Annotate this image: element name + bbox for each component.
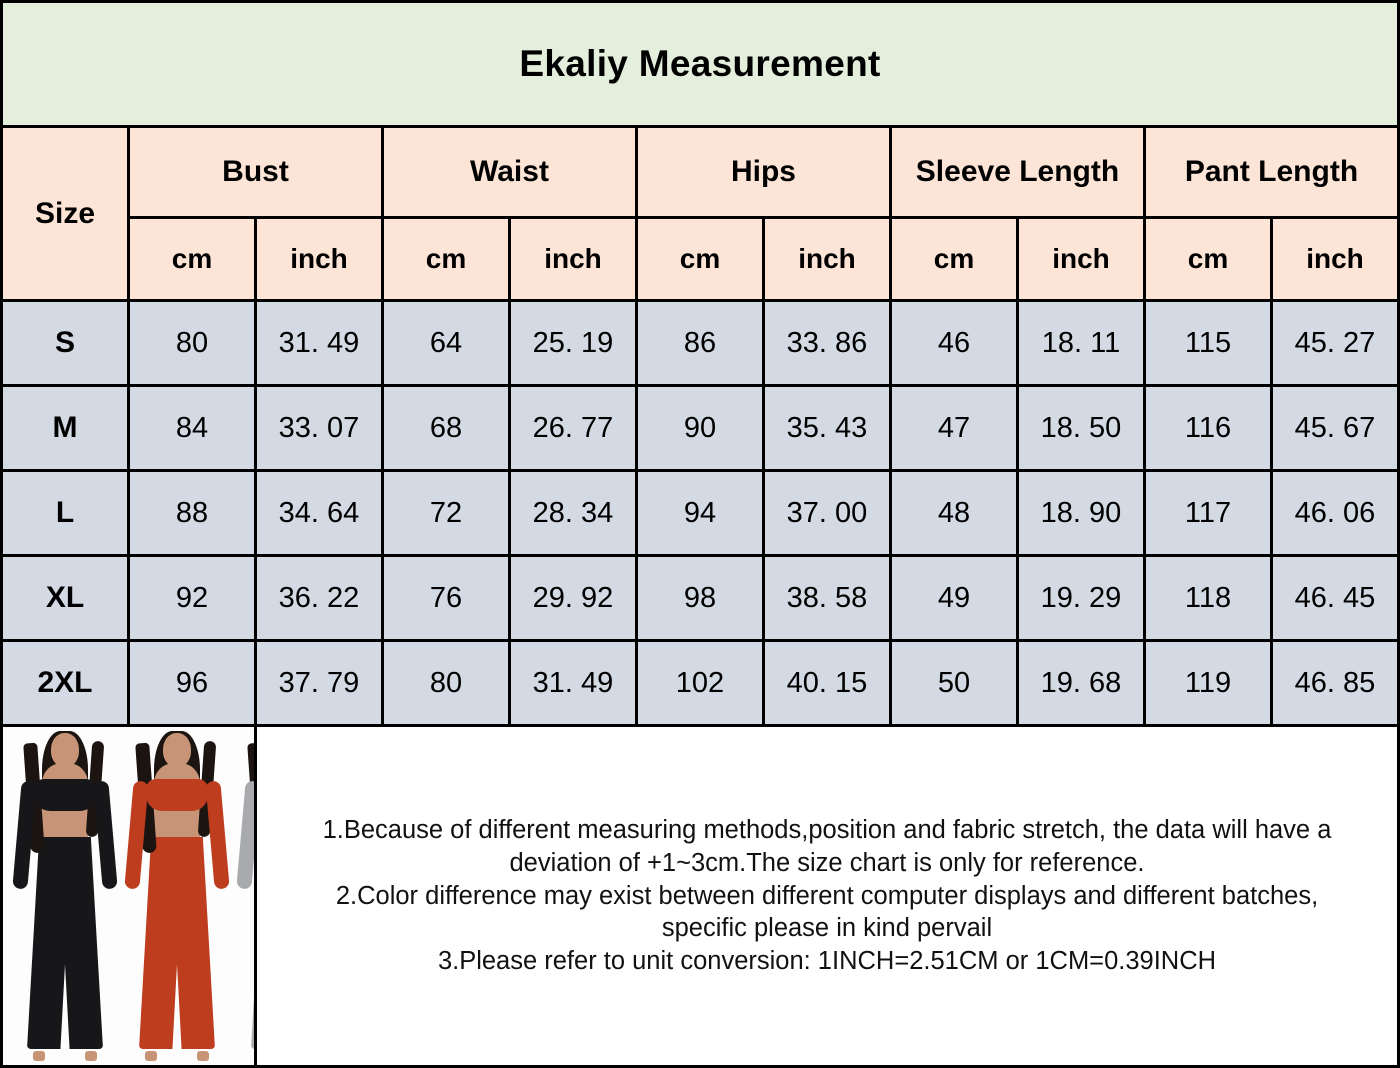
cell-waist-cm: 72 [383, 471, 510, 556]
row-size-label: M [2, 386, 129, 471]
row-size-label: S [2, 301, 129, 386]
cell-bust-inch: 37. 79 [256, 641, 383, 726]
unit-header-row: cm inch cm inch cm inch cm inch cm inch [2, 218, 1399, 301]
cell-hips-inch: 38. 58 [764, 556, 891, 641]
table-row: 2XL 96 37. 79 80 31. 49 102 40. 15 50 19… [2, 641, 1399, 726]
cell-waist-inch: 25. 19 [510, 301, 637, 386]
column-group-bust: Bust [129, 127, 383, 218]
cell-bust-inch: 33. 07 [256, 386, 383, 471]
cell-pant-inch: 46. 06 [1272, 471, 1399, 556]
cell-bust-inch: 31. 49 [256, 301, 383, 386]
crop-top [146, 779, 208, 811]
cell-pant-inch: 46. 85 [1272, 641, 1399, 726]
cell-sleeve-cm: 48 [891, 471, 1018, 556]
notes-block: 1.Because of different measuring methods… [256, 726, 1399, 1067]
cell-hips-cm: 98 [637, 556, 764, 641]
cell-hips-cm: 90 [637, 386, 764, 471]
unit-header-pant-inch: inch [1272, 218, 1399, 301]
cell-hips-inch: 33. 86 [764, 301, 891, 386]
cell-pant-inch: 46. 45 [1272, 556, 1399, 641]
table-row: XL 92 36. 22 76 29. 92 98 38. 58 49 19. … [2, 556, 1399, 641]
cell-bust-inch: 34. 64 [256, 471, 383, 556]
unit-header-hips-cm: cm [637, 218, 764, 301]
row-size-label: 2XL [2, 641, 129, 726]
sleeve-left [236, 781, 254, 890]
cell-hips-cm: 102 [637, 641, 764, 726]
cell-pant-inch: 45. 27 [1272, 301, 1399, 386]
column-group-hips: Hips [637, 127, 891, 218]
note-line-1: 1.Because of different measuring methods… [257, 814, 1397, 847]
cell-sleeve-cm: 46 [891, 301, 1018, 386]
cell-bust-cm: 88 [129, 471, 256, 556]
size-chart-page: Ekaliy Measurement Size Bust Waist Hips … [0, 0, 1400, 1038]
wide-leg-pants [27, 837, 103, 1049]
column-group-sleeve-length: Sleeve Length [891, 127, 1145, 218]
measurement-table: Ekaliy Measurement Size Bust Waist Hips … [0, 0, 1400, 1068]
cell-bust-cm: 84 [129, 386, 256, 471]
sleeve-right [93, 781, 117, 890]
wide-leg-pants [139, 837, 215, 1049]
unit-header-sleeve-cm: cm [891, 218, 1018, 301]
footer-row: 1.Because of different measuring methods… [2, 726, 1399, 1067]
product-photo [2, 726, 256, 1067]
cell-pant-inch: 45. 67 [1272, 386, 1399, 471]
unit-header-waist-cm: cm [383, 218, 510, 301]
cell-bust-cm: 92 [129, 556, 256, 641]
cell-sleeve-inch: 18. 90 [1018, 471, 1145, 556]
table-row: M 84 33. 07 68 26. 77 90 35. 43 47 18. 5… [2, 386, 1399, 471]
model-black [11, 733, 119, 1059]
cell-pant-cm: 115 [1145, 301, 1272, 386]
foot-right [85, 1051, 97, 1061]
unit-header-bust-cm: cm [129, 218, 256, 301]
cell-hips-cm: 94 [637, 471, 764, 556]
cell-waist-inch: 26. 77 [510, 386, 637, 471]
cell-waist-cm: 68 [383, 386, 510, 471]
cell-pant-cm: 117 [1145, 471, 1272, 556]
page-title: Ekaliy Measurement [2, 2, 1399, 127]
foot-right [197, 1051, 209, 1061]
note-line-4: specific please in kind pervail [257, 912, 1397, 945]
cell-hips-cm: 86 [637, 301, 764, 386]
unit-header-hips-inch: inch [764, 218, 891, 301]
cell-waist-cm: 76 [383, 556, 510, 641]
cell-bust-cm: 96 [129, 641, 256, 726]
cell-waist-inch: 31. 49 [510, 641, 637, 726]
group-header-row: Size Bust Waist Hips Sleeve Length Pant … [2, 127, 1399, 218]
cell-waist-cm: 64 [383, 301, 510, 386]
cell-sleeve-inch: 19. 29 [1018, 556, 1145, 641]
cell-hips-inch: 35. 43 [764, 386, 891, 471]
row-size-label: L [2, 471, 129, 556]
unit-header-pant-cm: cm [1145, 218, 1272, 301]
column-group-waist: Waist [383, 127, 637, 218]
foot-left [145, 1051, 157, 1061]
note-line-3: 2.Color difference may exist between dif… [257, 880, 1397, 913]
cell-sleeve-cm: 49 [891, 556, 1018, 641]
title-row: Ekaliy Measurement [2, 2, 1399, 127]
column-group-pant-length: Pant Length [1145, 127, 1399, 218]
foot-left [33, 1051, 45, 1061]
note-line-5: 3.Please refer to unit conversion: 1INCH… [257, 945, 1397, 978]
head-shape [163, 733, 191, 767]
sleeve-right [205, 781, 229, 890]
table-row: S 80 31. 49 64 25. 19 86 33. 86 46 18. 1… [2, 301, 1399, 386]
cell-sleeve-inch: 19. 68 [1018, 641, 1145, 726]
cell-waist-cm: 80 [383, 641, 510, 726]
note-line-2: deviation of +1~3cm.The size chart is on… [257, 847, 1397, 880]
unit-header-sleeve-inch: inch [1018, 218, 1145, 301]
unit-header-bust-inch: inch [256, 218, 383, 301]
head-shape [51, 733, 79, 767]
crop-top [34, 779, 96, 811]
cell-sleeve-inch: 18. 50 [1018, 386, 1145, 471]
unit-header-waist-inch: inch [510, 218, 637, 301]
cell-bust-inch: 36. 22 [256, 556, 383, 641]
cell-hips-inch: 37. 00 [764, 471, 891, 556]
column-header-size: Size [2, 127, 129, 301]
cell-waist-inch: 29. 92 [510, 556, 637, 641]
model-gray [235, 733, 254, 1059]
cell-pant-cm: 119 [1145, 641, 1272, 726]
product-photo-illustration [3, 727, 254, 1065]
model-rust [123, 733, 231, 1059]
cell-sleeve-cm: 50 [891, 641, 1018, 726]
cell-waist-inch: 28. 34 [510, 471, 637, 556]
cell-pant-cm: 118 [1145, 556, 1272, 641]
cell-bust-cm: 80 [129, 301, 256, 386]
row-size-label: XL [2, 556, 129, 641]
cell-hips-inch: 40. 15 [764, 641, 891, 726]
cell-sleeve-inch: 18. 11 [1018, 301, 1145, 386]
cell-sleeve-cm: 47 [891, 386, 1018, 471]
table-row: L 88 34. 64 72 28. 34 94 37. 00 48 18. 9… [2, 471, 1399, 556]
cell-pant-cm: 116 [1145, 386, 1272, 471]
